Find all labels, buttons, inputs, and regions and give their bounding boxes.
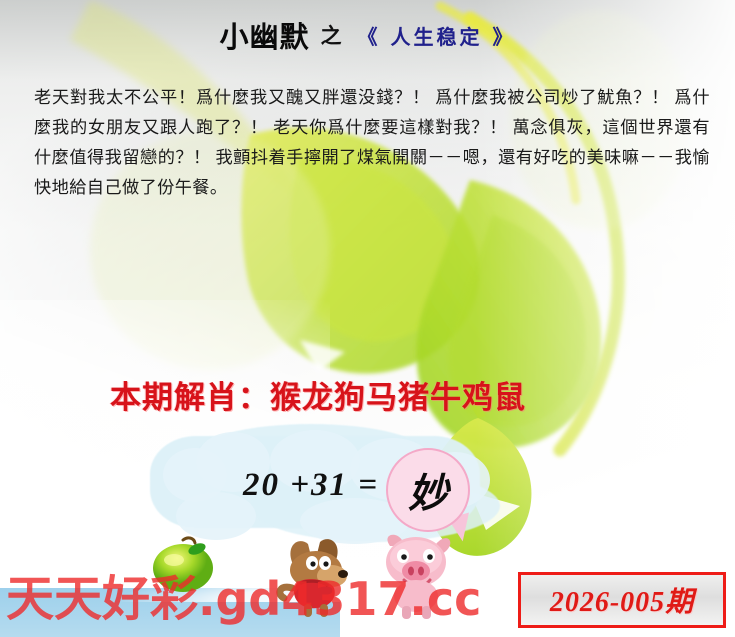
poster-canvas: 小幽默 之 《 人生稳定 》 老天對我太不公平！爲什麼我又醜又胖還没錢？！ 爲什… [0,0,735,637]
story-paragraph: 老天對我太不公平！爲什麼我又醜又胖還没錢？！ 爲什麼我被公司炒了魷魚？！ 爲什麼… [34,83,710,203]
watermark-brand: 天天好彩 [6,571,198,627]
title-subtitle: 《 人生稳定 》 [358,25,516,49]
poster-header: 小幽默 之 《 人生稳定 》 [0,14,735,56]
equation-expression: 20 +31 = [243,467,379,504]
title-connector: 之 [321,24,342,48]
equation-result: 妙 [386,448,470,532]
issue-number-box: 2026-005期 [518,572,726,628]
prediction-line: 本期解肖：猴龙狗马猪牛鸡鼠 [110,372,526,417]
watermark-domain: .gd4317.cc [198,572,481,626]
issue-number-text: 2026-005期 [550,580,694,620]
page-title: 小幽默 [220,20,310,54]
site-watermark: 天天好彩.gd4317.cc [6,568,566,630]
